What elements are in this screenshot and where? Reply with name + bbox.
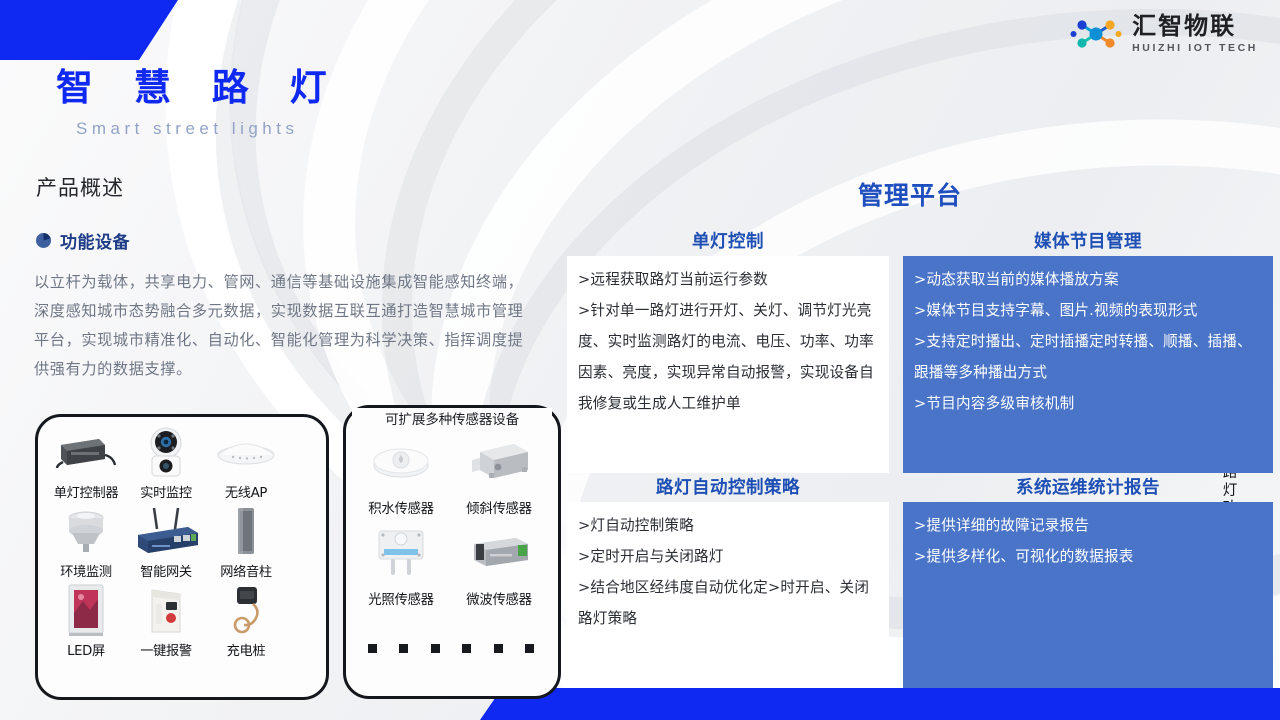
card-line: >提供详细的故障记录报告 [914, 510, 1262, 541]
device-label: LED屏 [67, 640, 105, 659]
platform-title: 管理平台 [760, 176, 1060, 212]
headline-block: 智 慧 路 灯 Smart street lights [56, 68, 341, 139]
card-title: 媒体节目管理 [903, 228, 1273, 253]
more-sensors-dots [368, 644, 534, 653]
bottom-blue-band [480, 688, 1280, 720]
card-title: 系统运维统计报告 [903, 474, 1273, 499]
charging-pile-icon [206, 582, 286, 638]
card-media-program-management: 媒体节目管理 >动态获取当前的媒体播放方案 >媒体节目支持字幕、图片.视频的表现… [903, 228, 1273, 473]
emergency-call-icon [126, 582, 206, 638]
sensor-label: 倾斜传感器 [466, 497, 531, 517]
card-line: >媒体节目支持字幕、图片.视频的表现形式 [914, 295, 1262, 326]
device-label: 单灯控制器 [54, 482, 118, 501]
device-item: LED屏 [46, 582, 126, 659]
card-auto-control-strategy: 路灯自动控制策略 >灯自动控制策略 >定时开启与关闭路灯 >结合地区经纬度自动优… [567, 474, 889, 688]
device-item: 无线AP [206, 424, 286, 501]
pie-circle-icon [36, 233, 51, 248]
sensor-item: 积水传感器 [352, 428, 450, 517]
device-item: 网络音柱 [206, 503, 286, 580]
top-left-blue-shape [0, 0, 178, 60]
dot [399, 644, 408, 653]
sensor-label: 积水传感器 [368, 497, 433, 517]
card-line: >针对单一路灯进行开灯、关灯、调节灯光亮度、实时监测路灯的电流、电压、功率、功率… [578, 295, 878, 419]
dot [431, 644, 440, 653]
card-body: >提供详细的故障记录报告 >提供多样化、可视化的数据报表 [903, 502, 1273, 688]
page-title: 智 慧 路 灯 [56, 68, 341, 109]
device-label: 充电桩 [227, 640, 266, 659]
card-body: >动态获取当前的媒体播放方案 >媒体节目支持字幕、图片.视频的表现形式 >支持定… [903, 256, 1273, 473]
logo-company-en: HUIZHI IOT TECH [1132, 43, 1258, 54]
slide-root: 汇智物联 HUIZHI IOT TECH 智 慧 路 灯 Smart stree… [0, 0, 1280, 720]
sensor-label: 微波传感器 [466, 588, 531, 608]
card-line: >灯自动控制策略 [578, 510, 878, 541]
card-title: 路灯自动控制策略 [567, 474, 889, 499]
environment-sensor-icon [46, 503, 126, 559]
subsection-label: 功能设备 [60, 228, 130, 253]
microwave-sensor-icon [450, 519, 548, 585]
card-title: 单灯控制 [567, 228, 889, 253]
device-label: 无线AP [225, 482, 267, 501]
sensor-device-grid: 积水传感器 倾斜传感器 [352, 428, 548, 608]
card-line: >结合地区经纬度自动优化定>时开启、关闭路灯策略 [578, 572, 878, 634]
section-title-overview: 产品概述 [36, 172, 124, 202]
device-item: 充电桩 [206, 582, 286, 659]
device-label: 一键报警 [140, 640, 192, 659]
device-label: 智能网关 [140, 561, 192, 580]
dot [494, 644, 503, 653]
sensor-item: 光照传感器 [352, 519, 450, 608]
sensor-item: 倾斜传感器 [450, 428, 548, 517]
water-level-sensor-icon [352, 428, 450, 494]
device-item: 实时监控 [126, 424, 206, 501]
product-description: 以立杆为载体，共享电力、管网、通信等基础设施集成智能感知终端，深度感知城市态势融… [34, 268, 524, 384]
sensor-box-title: 可扩展多种传感器设备 [352, 408, 552, 428]
light-sensor-icon [352, 519, 450, 585]
device-label: 实时监控 [140, 482, 192, 501]
card-line: >支持定时播出、定时插播定时转播、顺播、插播、跟播等多种播出方式 [914, 326, 1262, 388]
device-item: 一键报警 [126, 582, 206, 659]
device-item: 环境监测 [46, 503, 126, 580]
sensor-label: 光照传感器 [368, 588, 433, 608]
led-driver-icon [46, 424, 126, 480]
card-single-lamp-control: 单灯控制 >远程获取路灯当前运行参数 >针对单一路灯进行开灯、关灯、调节灯光亮度… [567, 228, 889, 473]
subsection-function-devices: 功能设备 [36, 228, 130, 253]
wireless-ap-icon [206, 424, 286, 480]
card-line: >节目内容多级审核机制 [914, 388, 1262, 419]
brand-logo: 汇智物联 HUIZHI IOT TECH [1070, 14, 1258, 54]
card-line: >动态获取当前的媒体播放方案 [914, 264, 1262, 295]
ptz-camera-icon [126, 424, 206, 480]
device-item: 单灯控制器 [46, 424, 126, 501]
network-speaker-icon [206, 503, 286, 559]
device-item: 智能网关 [126, 503, 206, 580]
card-ops-statistics-report: 系统运维统计报告 >提供详细的故障记录报告 >提供多样化、可视化的数据报表 [903, 474, 1273, 688]
card-line: >定时开启与关闭路灯 [578, 541, 878, 572]
tilt-sensor-icon [450, 428, 548, 494]
smart-gateway-icon [126, 503, 206, 559]
dot [368, 644, 377, 653]
sensor-item: 微波传感器 [450, 519, 548, 608]
dot [525, 644, 534, 653]
function-device-grid: 单灯控制器 实时监控 [46, 424, 286, 659]
logo-company-cn: 汇智物联 [1132, 14, 1258, 38]
device-label: 环境监测 [60, 561, 112, 580]
card-line: >提供多样化、可视化的数据报表 [914, 541, 1262, 572]
card-line: >远程获取路灯当前运行参数 [578, 264, 878, 295]
card-body: >远程获取路灯当前运行参数 >针对单一路灯进行开灯、关灯、调节灯光亮度、实时监测… [567, 256, 889, 473]
molecule-network-icon [1070, 14, 1122, 54]
device-label: 网络音柱 [220, 561, 272, 580]
page-subtitle: Smart street lights [76, 119, 341, 139]
card-body: >灯自动控制策略 >定时开启与关闭路灯 >结合地区经纬度自动优化定>时开启、关闭… [567, 502, 889, 688]
dot [462, 644, 471, 653]
led-screen-icon [46, 582, 126, 638]
